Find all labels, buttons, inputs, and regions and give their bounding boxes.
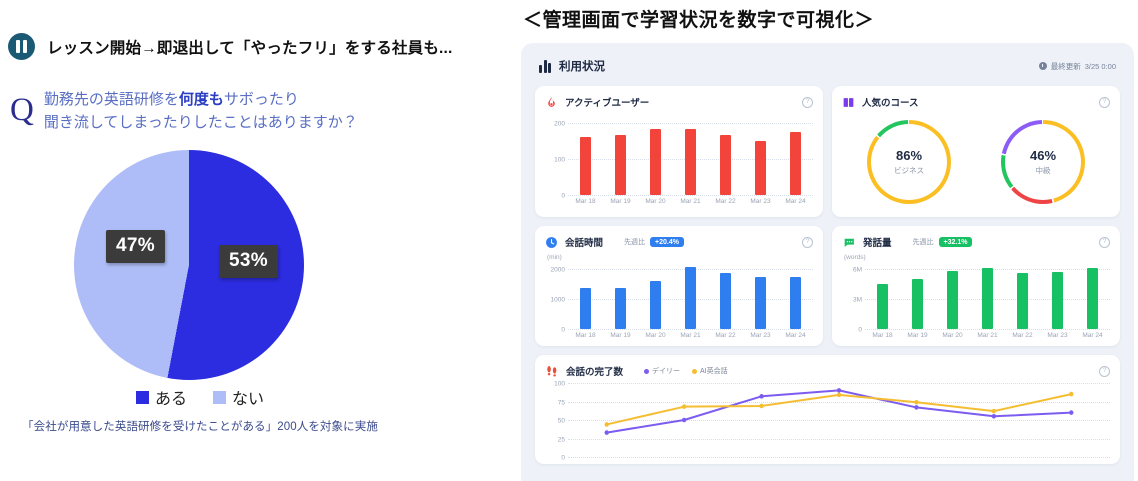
survey-panel: レッスン開始→即退出して「やったフリ」をする社員も... Q 勤務先の英語研修を…	[0, 0, 500, 481]
bar	[685, 267, 696, 329]
x-tick-label: Mar 24	[781, 332, 811, 339]
x-tick-label: Mar 23	[746, 198, 776, 205]
bar	[790, 132, 801, 195]
donut-value: 86%	[896, 148, 922, 163]
line-point	[682, 404, 686, 409]
line-point	[1069, 410, 1073, 415]
pie-legend: ある ない	[0, 385, 400, 409]
plot-area: 100 75 50 25 0	[568, 383, 1110, 457]
chart-completed-conversations: 100 75 50 25 0	[545, 383, 1110, 457]
line-point	[1069, 392, 1073, 397]
plot-area: 2000 1000 0	[568, 263, 813, 329]
legend-item-ai: AI英会話	[692, 366, 728, 376]
donut-value: 46%	[1030, 148, 1056, 163]
help-icon[interactable]: ?	[802, 237, 813, 248]
x-tick-label: Mar 22	[1008, 332, 1038, 339]
card-completed-conversations[interactable]: 会話の完了数 デイリー AI英会話 ?	[535, 355, 1120, 464]
source-note: 「会社が用意した英語研修を受けたことがある」200人を対象に実施	[0, 418, 400, 434]
chart-utterances: (words) 6M 3M 0 Mar 18Mar 19Mar 20Mar 21…	[842, 254, 1110, 339]
card-title: 会話の完了数	[566, 364, 623, 378]
question-line1-emphasis: 何度も	[179, 91, 224, 108]
line-point	[992, 414, 996, 419]
x-tick-label: Mar 23	[746, 332, 776, 339]
line-point	[759, 404, 763, 409]
donut-label: ビジネス	[894, 165, 924, 176]
x-tick-label: Mar 18	[571, 198, 601, 205]
bars-container	[568, 263, 813, 329]
legend-item-nai: ない	[213, 385, 264, 409]
card-grid: アクティブユーザー ? 200 100 0 Mar 18Mar 19Mar 20…	[535, 86, 1120, 464]
y-tick: 0	[561, 193, 565, 200]
y-tick: 0	[561, 327, 565, 334]
x-tick-label: Mar 19	[903, 332, 933, 339]
line-series-svg	[568, 383, 1110, 457]
y-tick: 75	[558, 399, 565, 406]
bar	[650, 129, 661, 195]
question-line1-part1: 勤務先の英語研修を	[44, 91, 179, 108]
bar	[580, 288, 591, 329]
plot-area: 6M 3M 0	[865, 263, 1110, 329]
x-tick-label: Mar 22	[711, 198, 741, 205]
card-active-users[interactable]: アクティブユーザー ? 200 100 0 Mar 18Mar 19Mar 20…	[535, 86, 823, 217]
x-axis-labels: Mar 18Mar 19Mar 20Mar 21Mar 22Mar 23Mar …	[568, 332, 813, 339]
x-tick-label: Mar 20	[641, 198, 671, 205]
bar	[790, 277, 801, 329]
pie-slice-label-nai: 47%	[106, 230, 165, 263]
gridline: 0	[568, 457, 1110, 458]
headline-text: レッスン開始→即退出して「やったフリ」をする社員も...	[47, 36, 453, 58]
panel-header-left: 利用状況	[539, 58, 605, 74]
legend-label-daily: デイリー	[652, 366, 680, 376]
line-point	[837, 393, 841, 398]
legend-item-daily: デイリー	[644, 366, 680, 376]
y-axis-unit: (min)	[547, 254, 813, 263]
bar	[580, 137, 591, 195]
y-tick: 2000	[551, 267, 565, 274]
y-tick: 50	[558, 418, 565, 425]
y-axis-unit	[547, 114, 813, 123]
line-chart-legend: デイリー AI英会話	[644, 366, 728, 376]
x-tick-label: Mar 19	[606, 332, 636, 339]
card-talk-time[interactable]: 会話時間 先週比 +20.4% ? (min) 2000 1000 0	[535, 226, 823, 346]
y-tick: 100	[554, 381, 565, 388]
delta-group: 先週比 +32.1%	[913, 237, 973, 247]
question-line1-part3: サボったり	[224, 91, 299, 108]
bar	[720, 135, 731, 195]
bar	[877, 284, 888, 329]
donut-row: 86% ビジネス 46% 中級	[842, 114, 1110, 210]
x-tick-label: Mar 24	[781, 198, 811, 205]
delta-group: 先週比 +20.4%	[624, 237, 684, 247]
bar	[755, 277, 766, 329]
clock-blue-icon	[545, 236, 558, 249]
x-tick-label: Mar 18	[571, 332, 601, 339]
card-header: 人気のコース ?	[842, 94, 1110, 110]
clock-icon	[1039, 62, 1047, 70]
x-tick-label: Mar 23	[1043, 332, 1073, 339]
pie-chart: 53% 47%	[74, 150, 304, 380]
gridline: 0	[568, 329, 813, 330]
book-icon	[842, 96, 855, 109]
y-tick: 200	[554, 121, 565, 128]
y-tick: 1000	[551, 297, 565, 304]
card-header: 会話の完了数 デイリー AI英会話 ?	[545, 363, 1110, 379]
x-axis-labels: Mar 18Mar 19Mar 20Mar 21Mar 22Mar 23Mar …	[865, 332, 1110, 339]
bar	[1052, 272, 1063, 329]
question-row: Q 勤務先の英語研修を何度もサボったり 聞き流してしまったりしたことはありますか…	[10, 88, 358, 135]
x-axis-labels: Mar 18Mar 19Mar 20Mar 21Mar 22Mar 23Mar …	[568, 198, 813, 205]
bar	[1017, 273, 1028, 329]
bar	[720, 273, 731, 329]
donut-business[interactable]: 86% ビジネス	[867, 120, 951, 204]
footprints-icon	[545, 364, 559, 378]
x-tick-label: Mar 20	[641, 332, 671, 339]
last-updated-value: 3/25 0:00	[1085, 62, 1116, 71]
x-tick-label: Mar 21	[676, 198, 706, 205]
donut-center: 46% 中級	[1005, 124, 1081, 200]
gridline: 0	[568, 195, 813, 196]
bar	[650, 281, 661, 329]
bar	[912, 279, 923, 329]
question-line2: 聞き流してしまったりしたことはありますか？	[44, 114, 358, 131]
x-tick-label: Mar 22	[711, 332, 741, 339]
y-tick: 3M	[853, 297, 862, 304]
x-tick-label: Mar 21	[973, 332, 1003, 339]
legend-item-aru: ある	[136, 385, 187, 409]
bar	[615, 288, 626, 329]
line-point	[682, 418, 686, 423]
line-point	[837, 388, 841, 393]
card-utterances[interactable]: 発話量 先週比 +32.1% ? (words) 6M 3M 0	[832, 226, 1120, 346]
bar-chart-icon	[539, 60, 551, 73]
card-title: アクティブユーザー	[565, 95, 649, 109]
pause-icon	[8, 33, 35, 60]
headline-row: レッスン開始→即退出して「やったフリ」をする社員も...	[8, 33, 453, 60]
pie-slice-label-aru: 53%	[219, 245, 278, 278]
line-point	[914, 405, 918, 410]
bars-container	[568, 123, 813, 195]
card-popular-courses[interactable]: 人気のコース ? 86% ビジネス 46% 中級	[832, 86, 1120, 217]
card-title: 会話時間	[565, 235, 603, 249]
delta-badge: +20.4%	[650, 237, 684, 247]
legend-label-nai: ない	[232, 385, 264, 409]
x-tick-label: Mar 24	[1078, 332, 1108, 339]
legend-label-ai: AI英会話	[700, 366, 728, 376]
dashboard-window: 利用状況 最終更新 3/25 0:00 アクティブユーザー	[521, 43, 1134, 481]
legend-label-aru: ある	[155, 385, 187, 409]
donut-level[interactable]: 46% 中級	[1001, 120, 1085, 204]
chat-icon	[842, 236, 856, 249]
chart-active-users: 200 100 0 Mar 18Mar 19Mar 20Mar 21Mar 22…	[545, 114, 813, 205]
legend-dot-daily	[644, 369, 649, 374]
question-text: 勤務先の英語研修を何度もサボったり 聞き流してしまったりしたことはありますか？	[44, 88, 358, 135]
delta-label: 先週比	[624, 237, 645, 247]
line-point	[914, 400, 918, 405]
bar	[615, 135, 626, 195]
bar	[755, 141, 766, 195]
donut-label: 中級	[1036, 165, 1051, 176]
y-tick: 6M	[853, 267, 862, 274]
bar	[982, 268, 993, 329]
delta-label: 先週比	[913, 237, 934, 247]
y-tick: 0	[858, 327, 862, 334]
dashboard-panel: ＜管理画面で学習状況を数字で可視化＞ 利用状況 最終更新 3/25 0:00	[512, 0, 1138, 481]
help-icon[interactable]: ?	[1099, 97, 1110, 108]
chart-talk-time: (min) 2000 1000 0 Mar 18Mar 19Mar 20Mar …	[545, 254, 813, 339]
flame-icon	[545, 96, 558, 109]
bar	[1087, 268, 1098, 329]
line-series-1	[607, 394, 1072, 424]
y-axis-unit: (words)	[844, 254, 1110, 263]
legend-swatch-aru	[136, 391, 149, 404]
bars-container	[865, 263, 1110, 329]
line-point	[605, 430, 609, 435]
line-point	[759, 394, 763, 399]
x-tick-label: Mar 19	[606, 198, 636, 205]
gridline: 0	[865, 329, 1110, 330]
donut-center: 86% ビジネス	[871, 124, 947, 200]
x-tick-label: Mar 18	[868, 332, 898, 339]
legend-swatch-nai	[213, 391, 226, 404]
card-title: 発話量	[863, 235, 892, 249]
line-point	[992, 409, 996, 414]
delta-badge: +32.1%	[939, 237, 973, 247]
bar	[947, 271, 958, 329]
bar	[685, 129, 696, 195]
help-icon[interactable]: ?	[802, 97, 813, 108]
dashboard-title: ＜管理画面で学習状況を数字で可視化＞	[523, 5, 874, 32]
question-mark-icon: Q	[10, 94, 34, 127]
panel-title: 利用状況	[559, 58, 605, 74]
plot-area: 200 100 0	[568, 123, 813, 195]
help-icon[interactable]: ?	[1099, 237, 1110, 248]
panel-header: 利用状況 最終更新 3/25 0:00	[535, 55, 1120, 77]
help-icon[interactable]: ?	[1099, 366, 1110, 377]
last-updated: 最終更新 3/25 0:00	[1039, 61, 1116, 72]
y-tick: 0	[561, 455, 565, 462]
card-title: 人気のコース	[862, 95, 919, 109]
x-tick-label: Mar 21	[676, 332, 706, 339]
y-tick: 100	[554, 157, 565, 164]
card-header: 会話時間 先週比 +20.4% ?	[545, 234, 813, 250]
last-updated-label: 最終更新	[1051, 61, 1081, 72]
card-header: 発話量 先週比 +32.1% ?	[842, 234, 1110, 250]
line-point	[605, 422, 609, 427]
x-tick-label: Mar 20	[938, 332, 968, 339]
y-tick: 25	[558, 436, 565, 443]
card-header: アクティブユーザー ?	[545, 94, 813, 110]
legend-dot-ai	[692, 369, 697, 374]
